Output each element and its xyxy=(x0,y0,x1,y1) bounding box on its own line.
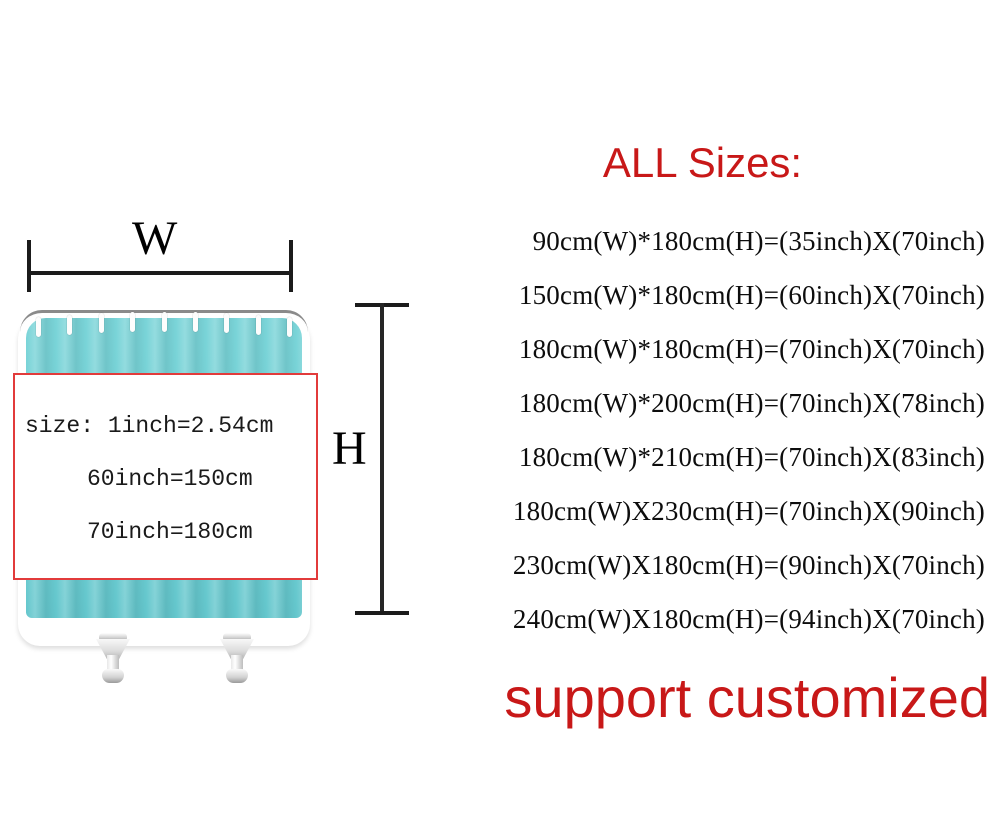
height-dimension-cap-bottom xyxy=(355,611,409,615)
size-list-item: 180cm(W)*200cm(H)=(70inch)X(78inch) xyxy=(420,376,985,430)
claw-foot-base xyxy=(226,669,248,683)
height-label: H xyxy=(332,425,367,473)
curtain-ring xyxy=(224,313,229,333)
size-list-item: 180cm(W)*180cm(H)=(70inch)X(70inch) xyxy=(420,322,985,376)
curtain-ring xyxy=(99,313,104,333)
support-customized-text: support customized xyxy=(420,664,990,732)
size-list-item: 240cm(W)X180cm(H)=(94inch)X(70inch) xyxy=(420,592,985,646)
width-dimension-bar xyxy=(27,271,293,275)
bathtub-claw-foot-right xyxy=(220,633,254,685)
curtain-ring xyxy=(130,312,135,332)
conversion-line: 70inch=180cm xyxy=(15,506,316,559)
size-list-item: 230cm(W)X180cm(H)=(90inch)X(70inch) xyxy=(420,538,985,592)
curtain-ring xyxy=(36,317,41,337)
bathtub-claw-foot-left xyxy=(96,633,130,685)
conversion-line: 60inch=150cm xyxy=(15,453,316,506)
curtain-ring xyxy=(67,315,72,335)
height-dimension-bar xyxy=(380,303,384,615)
size-list: 90cm(W)*180cm(H)=(35inch)X(70inch) 150cm… xyxy=(420,214,985,646)
size-list-item: 150cm(W)*180cm(H)=(60inch)X(70inch) xyxy=(420,268,985,322)
all-sizes-title: ALL Sizes: xyxy=(420,139,985,187)
curtain-ring xyxy=(162,312,167,332)
size-list-item: 180cm(W)*210cm(H)=(70inch)X(83inch) xyxy=(420,430,985,484)
curtain-rings xyxy=(26,312,302,336)
conversion-line: size: 1inch=2.54cm xyxy=(15,400,316,453)
unit-conversion-box: size: 1inch=2.54cm 60inch=150cm 70inch=1… xyxy=(13,373,318,580)
claw-foot-base xyxy=(102,669,124,683)
size-list-item: 180cm(W)X230cm(H)=(70inch)X(90inch) xyxy=(420,484,985,538)
width-dimension-cap-left xyxy=(27,240,31,292)
width-dimension-cap-right xyxy=(289,240,293,292)
curtain-ring xyxy=(287,317,292,337)
size-list-item: 90cm(W)*180cm(H)=(35inch)X(70inch) xyxy=(420,214,985,268)
curtain-ring xyxy=(193,312,198,332)
width-label: W xyxy=(132,215,177,263)
product-dimension-illustration: W H size: 1inch=2.54cm 60inch=150cm 70in… xyxy=(0,0,420,830)
size-chart-panel: ALL Sizes: 90cm(W)*180cm(H)=(35inch)X(70… xyxy=(420,0,1000,830)
curtain-ring xyxy=(256,315,261,335)
